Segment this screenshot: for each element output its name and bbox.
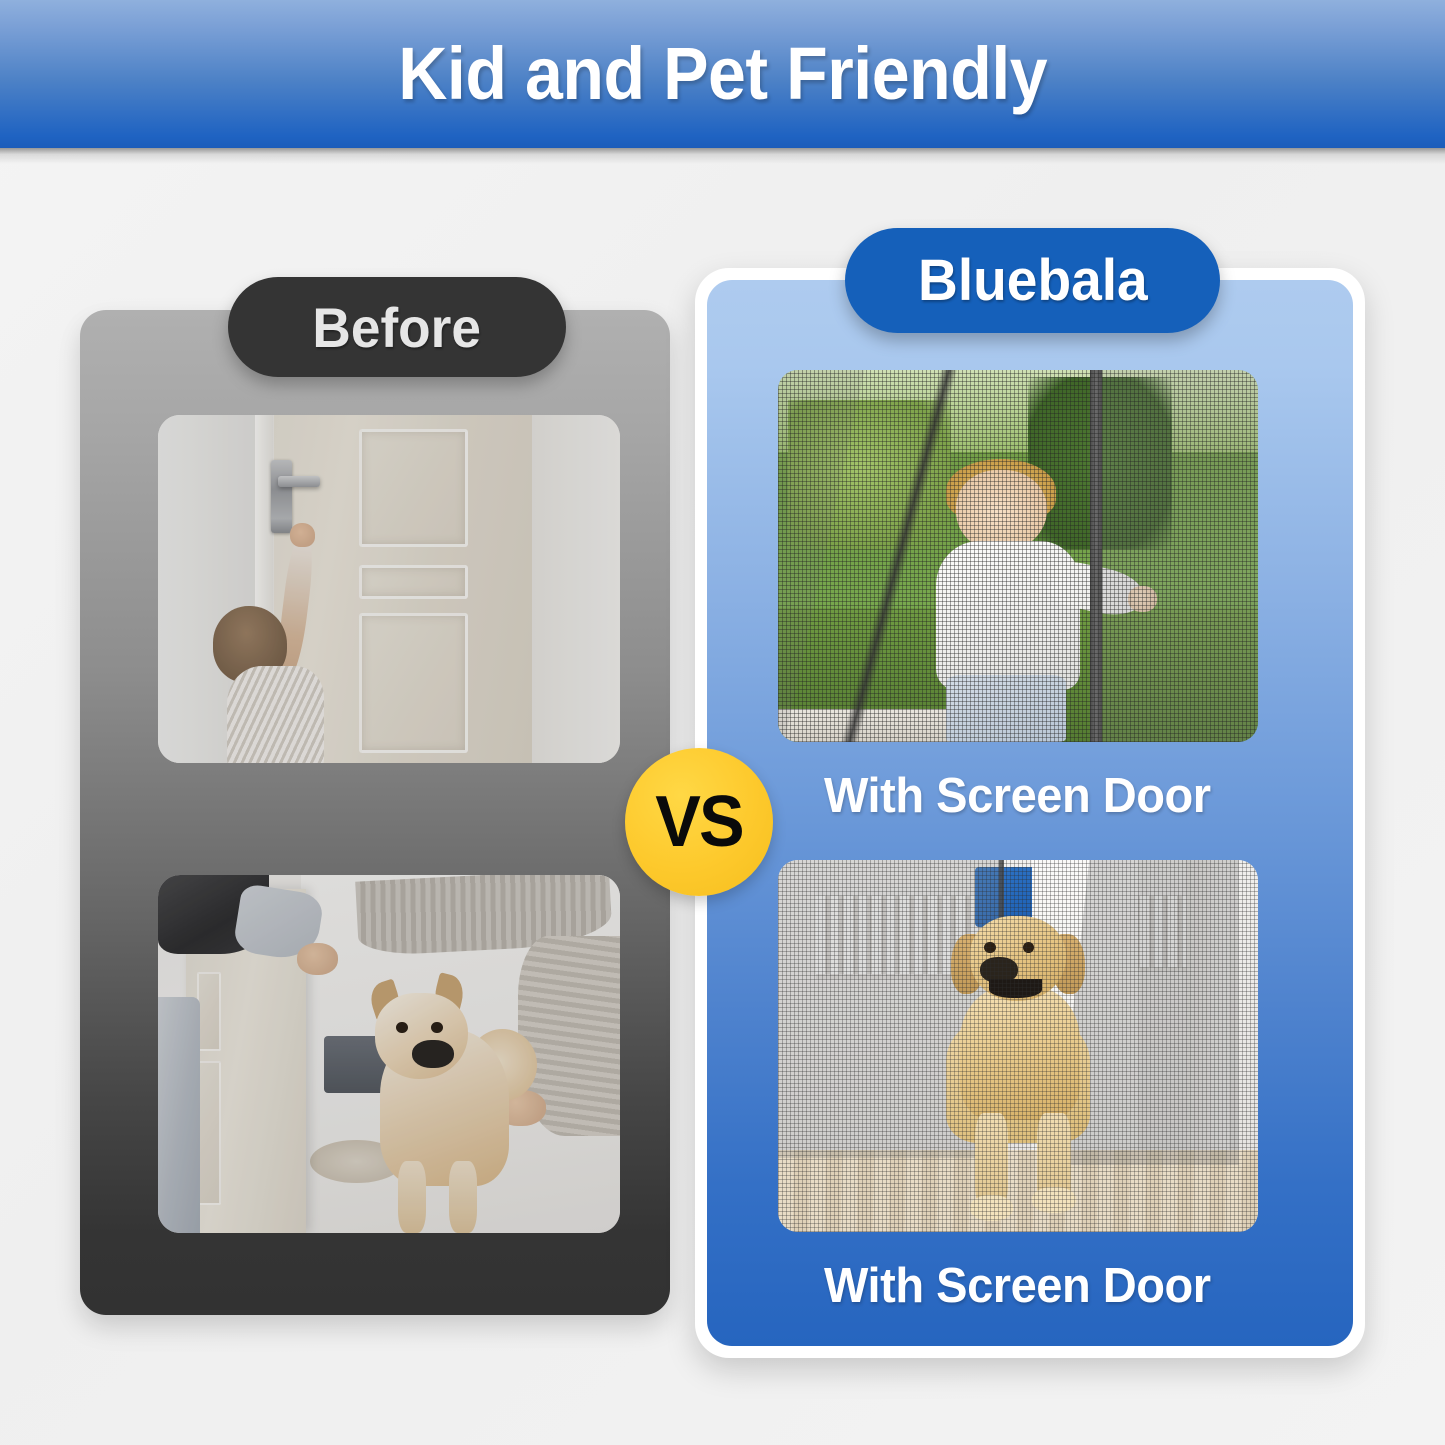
living-room <box>301 875 620 1233</box>
toddler-body <box>227 666 324 763</box>
person-sleeve-left <box>232 883 325 963</box>
photo-after-toddler-screen <box>778 370 1258 742</box>
person-sleeve-right <box>518 936 620 1136</box>
door-panel-middle <box>359 565 468 600</box>
dog-ear-right <box>431 972 467 1017</box>
dog-tail <box>468 1029 537 1101</box>
scene-dog-screen-door <box>778 860 1258 1232</box>
person-hand-right <box>495 1090 546 1126</box>
vs-badge: VS <box>625 748 773 896</box>
door-panel-bottom <box>197 1061 221 1205</box>
dog-leg-front-right <box>449 1161 477 1233</box>
wall-left <box>158 415 255 763</box>
photo-after-dog-screen <box>778 860 1258 1232</box>
round-rug <box>310 1140 402 1183</box>
vs-label: VS <box>655 781 742 863</box>
scene-dog-open-door <box>158 875 620 1233</box>
dog-eye-left <box>984 942 996 953</box>
header-banner: Kid and Pet Friendly <box>0 0 1445 148</box>
scene-toddler-closed-door <box>158 415 620 763</box>
screen-flap-edge <box>778 370 1258 742</box>
dog-paw-right <box>1032 1187 1075 1213</box>
brand-badge-label: Bluebala <box>918 247 1148 314</box>
infographic-stage: Kid and Pet Friendly <box>0 0 1445 1445</box>
door-handle-lever <box>278 476 320 487</box>
door-panel-upper <box>359 429 468 547</box>
dog-body <box>380 1029 509 1187</box>
person-sleeve-top <box>355 875 613 957</box>
scene-toddler-screen-door <box>778 370 1258 742</box>
header-shadow <box>0 148 1445 164</box>
dog-head <box>375 993 467 1079</box>
person-hand-left <box>297 943 339 975</box>
photo-before-toddler-door <box>158 415 620 763</box>
dog-snout <box>412 1040 454 1069</box>
dog-chest <box>960 986 1080 1120</box>
dog-eye-right <box>431 1022 443 1033</box>
sofa <box>324 1036 403 1093</box>
brand-badge: Bluebala <box>845 228 1220 333</box>
dog-mouth <box>989 979 1042 998</box>
open-door <box>186 889 306 1233</box>
dog-ear-left <box>366 979 403 1022</box>
person-jacket <box>158 875 269 954</box>
toddler-head <box>213 606 287 683</box>
door-handle-plate <box>271 460 292 533</box>
dog-paw-left <box>970 1195 1013 1221</box>
door-panel-top <box>197 972 221 1051</box>
dog-eye-left <box>396 1022 408 1033</box>
door-frame <box>255 415 273 763</box>
dog-leg-front-left <box>398 1161 426 1233</box>
panel-door <box>274 415 533 763</box>
caption-after-top: With Screen Door <box>824 768 1211 824</box>
photo-before-dog-open-door <box>158 875 620 1233</box>
wall-right <box>532 415 620 763</box>
person-jeans <box>158 997 200 1233</box>
before-badge: Before <box>228 277 566 377</box>
toddler-arm <box>274 532 317 680</box>
page-title: Kid and Pet Friendly <box>398 37 1047 111</box>
caption-after-bottom: With Screen Door <box>824 1258 1211 1314</box>
toddler-hand <box>290 523 315 547</box>
door-panel-lower <box>359 613 468 752</box>
before-badge-label: Before <box>313 295 482 360</box>
